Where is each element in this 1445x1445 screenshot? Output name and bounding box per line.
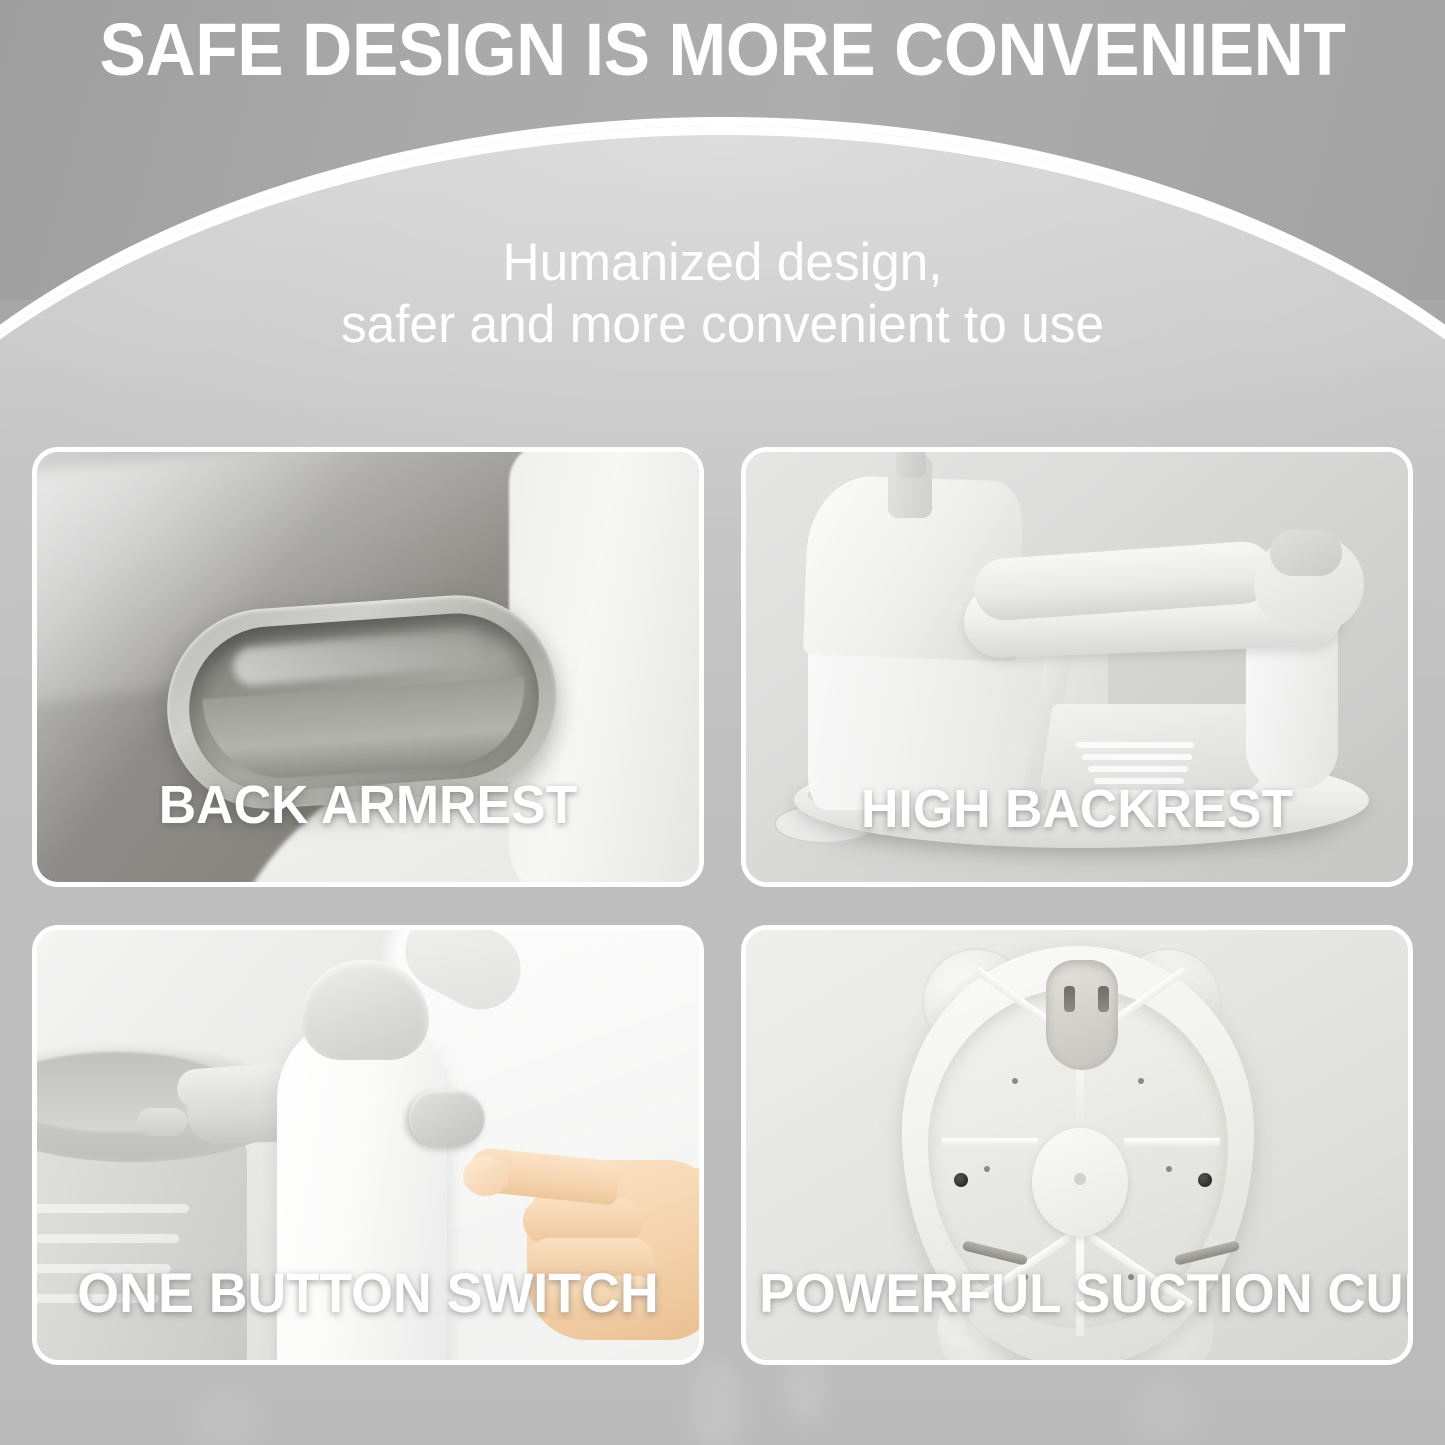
feature-panel-powerful-suction-cup[interactable]: POWERFUL SUCTION CUP <box>741 925 1413 1365</box>
subtitle-line-2: safer and more convenient to use <box>22 294 1424 356</box>
page-subtitle: Humanized design, safer and more conveni… <box>22 232 1424 356</box>
infographic-canvas: SAFE DESIGN IS MORE CONVENIENT Humanized… <box>0 0 1445 1445</box>
panel-label-one-button-switch: ONE BUTTON SWITCH <box>50 1264 686 1322</box>
feature-panel-high-backrest[interactable]: HIGH BACKREST <box>741 447 1413 887</box>
hand-illustration <box>469 1126 699 1360</box>
panel-label-back-armrest: BACK ARMREST <box>50 776 686 834</box>
watermark-shape <box>1130 1372 1200 1442</box>
page-title: SAFE DESIGN IS MORE CONVENIENT <box>43 8 1401 92</box>
panel-label-powerful-suction-cup: POWERFUL SUCTION CUP <box>759 1264 1395 1322</box>
subtitle-line-1: Humanized design, <box>502 233 942 292</box>
watermark-shape <box>190 1385 260 1445</box>
feature-panel-one-button-switch[interactable]: ONE BUTTON SWITCH <box>32 925 704 1365</box>
panel-label-high-backrest: HIGH BACKREST <box>759 780 1395 838</box>
feature-panel-back-armrest[interactable]: BACK ARMREST <box>32 447 704 887</box>
feature-panel-grid: BACK ARMREST <box>32 447 1413 1372</box>
